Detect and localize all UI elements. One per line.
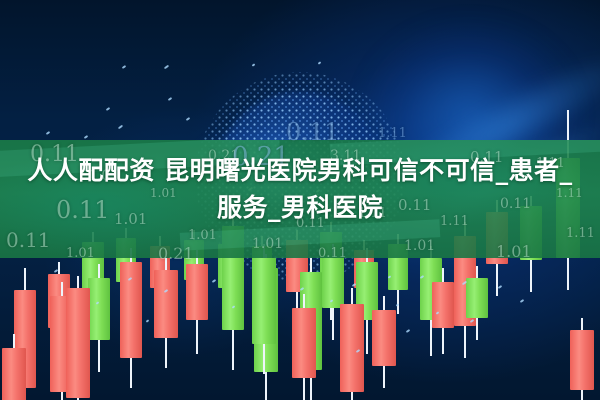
title-line-1: 人人配配资 昆明曙光医院男科可信不可信_患者_: [10, 152, 590, 189]
title-line-2: 服务_男科医院: [10, 189, 590, 226]
candlestick-body: [120, 262, 142, 358]
candlestick-body: [292, 308, 316, 378]
candlestick-body: [340, 304, 364, 392]
candlestick-body: [88, 278, 110, 340]
candlestick-body: [252, 258, 276, 344]
candlestick-body: [2, 348, 26, 400]
candlestick-body: [154, 270, 178, 338]
candlestick-body: [66, 288, 90, 398]
candlestick-body: [186, 264, 208, 320]
candlestick-body: [570, 330, 594, 390]
candlestick-body: [372, 310, 396, 366]
page-title: 人人配配资 昆明曙光医院男科可信不可信_患者_ 服务_男科医院: [0, 152, 600, 226]
candlestick-body: [432, 282, 454, 328]
promo-banner: 0.110.110.111.011.011.010.211.010.211.01…: [0, 0, 600, 400]
candlestick-body: [466, 278, 488, 318]
